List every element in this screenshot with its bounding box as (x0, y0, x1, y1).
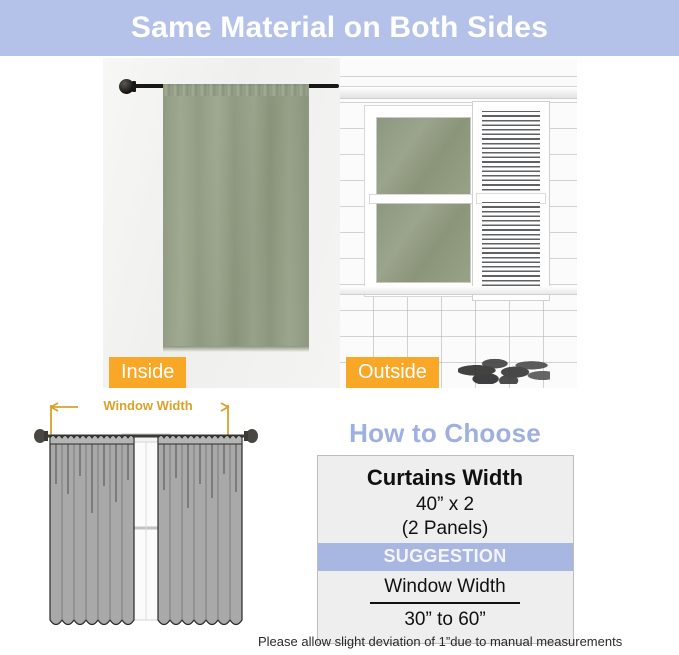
spec-window-width-range: 30” to 60” (318, 607, 573, 633)
window-width-diagram: Window Width (22, 398, 274, 648)
how-to-choose-block: How to Choose Curtains Width 40” x 2 (2 … (290, 418, 600, 644)
badge-outside: Outside (346, 357, 439, 388)
header-banner: Same Material on Both Sides (0, 0, 679, 56)
shutter-louvers-top (482, 111, 540, 195)
footer-disclaimer: Please allow slight deviation of 1”due t… (258, 634, 622, 649)
window-sill (340, 286, 577, 295)
spec-curtains-width-header: Curtains Width (318, 462, 573, 493)
measure-label: Window Width (78, 398, 218, 413)
photo-outside-view: Outside (340, 58, 577, 388)
spec-width-value: 40” x 2 (318, 493, 573, 517)
spec-window-width-label: Window Width (318, 571, 573, 601)
exterior-window-frame (365, 106, 480, 296)
window-center-rail (370, 195, 475, 203)
window-pane-bottom (376, 203, 471, 283)
badge-inside: Inside (109, 357, 186, 388)
window-pane-top (376, 117, 471, 197)
window-shutter (473, 102, 549, 300)
curtain-hem (163, 346, 309, 352)
roof-eave (340, 86, 577, 99)
photo-inside-view: Inside (103, 58, 340, 388)
spec-suggestion-header: SUGGESTION (318, 543, 573, 571)
spec-divider (370, 602, 520, 604)
page-title: Same Material on Both Sides (131, 11, 548, 45)
curtain-panel-photo (163, 86, 309, 351)
rod-bracket-icon (132, 81, 136, 92)
how-to-choose-title: How to Choose (290, 418, 600, 449)
curtain-rod-pocket (163, 84, 309, 96)
shrub-foliage (458, 350, 550, 384)
spec-table: Curtains Width 40” x 2 (2 Panels) SUGGES… (317, 455, 574, 644)
curtain-line-drawing (22, 398, 274, 648)
shutter-louvers-bottom (482, 202, 540, 286)
comparison-photo-row: Inside Outside (103, 58, 577, 388)
spec-panel-count: (2 Panels) (318, 517, 573, 543)
